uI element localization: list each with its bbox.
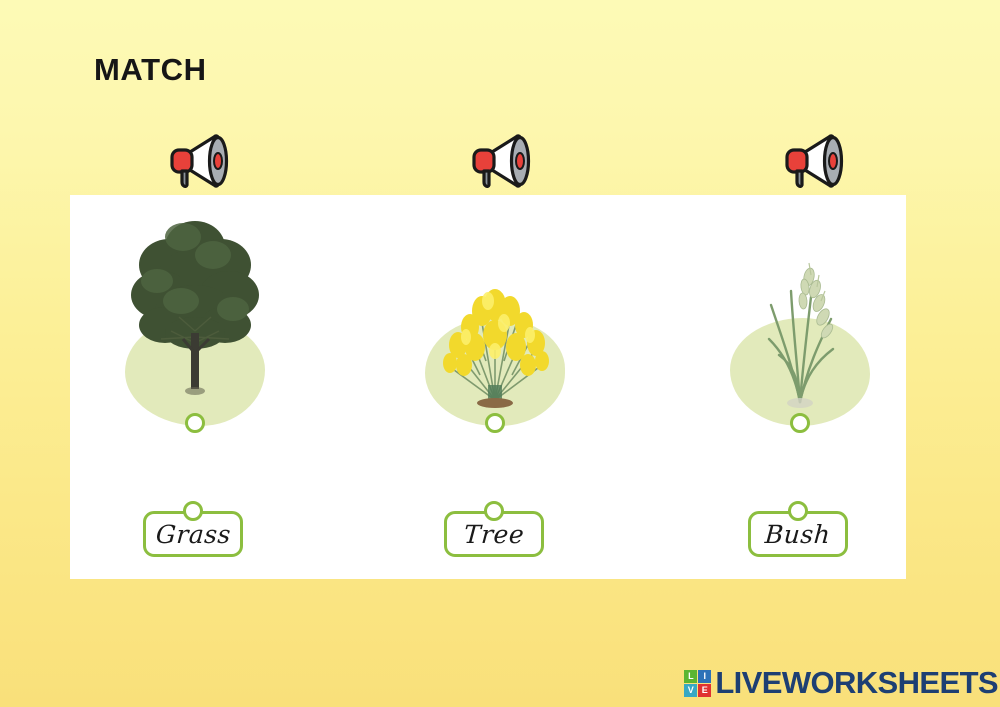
logo-letter-blocks: L I V E bbox=[684, 670, 711, 697]
page-title: MATCH bbox=[94, 52, 207, 88]
logo-block-l: L bbox=[684, 670, 697, 683]
image-cell-tree bbox=[95, 205, 295, 465]
word-connector-grass[interactable] bbox=[183, 501, 203, 521]
word-label-tree: Tree bbox=[463, 522, 525, 547]
logo-block-i: I bbox=[698, 670, 711, 683]
image-connector-tree[interactable] bbox=[185, 413, 205, 433]
play-audio-button-1[interactable] bbox=[160, 130, 232, 192]
play-audio-button-3[interactable] bbox=[775, 130, 847, 192]
word-box-tree[interactable]: Tree bbox=[444, 511, 544, 557]
word-label-grass: Grass bbox=[155, 522, 232, 547]
grass-image bbox=[735, 257, 865, 412]
megaphone-icon bbox=[775, 130, 847, 192]
image-connector-grass[interactable] bbox=[790, 413, 810, 433]
tree-image bbox=[121, 213, 269, 403]
logo-block-e: E bbox=[698, 684, 711, 697]
megaphone-icon bbox=[160, 130, 232, 192]
logo-block-v: V bbox=[684, 684, 697, 697]
play-audio-button-2[interactable] bbox=[462, 130, 534, 192]
word-connector-bush[interactable] bbox=[788, 501, 808, 521]
liveworksheets-logo: L I V E LIVEWORKSHEETS bbox=[684, 665, 998, 701]
image-cell-bush bbox=[395, 205, 595, 465]
brand-name: LIVEWORKSHEETS bbox=[715, 665, 998, 701]
word-box-bush[interactable]: Bush bbox=[748, 511, 848, 557]
image-cell-grass bbox=[700, 205, 900, 465]
megaphone-icon bbox=[462, 130, 534, 192]
worksheet-page: MATCH bbox=[0, 0, 1000, 707]
word-box-grass[interactable]: Grass bbox=[143, 511, 243, 557]
image-connector-bush[interactable] bbox=[485, 413, 505, 433]
word-label-bush: Bush bbox=[764, 522, 831, 547]
bush-image bbox=[420, 265, 570, 410]
word-connector-tree[interactable] bbox=[484, 501, 504, 521]
